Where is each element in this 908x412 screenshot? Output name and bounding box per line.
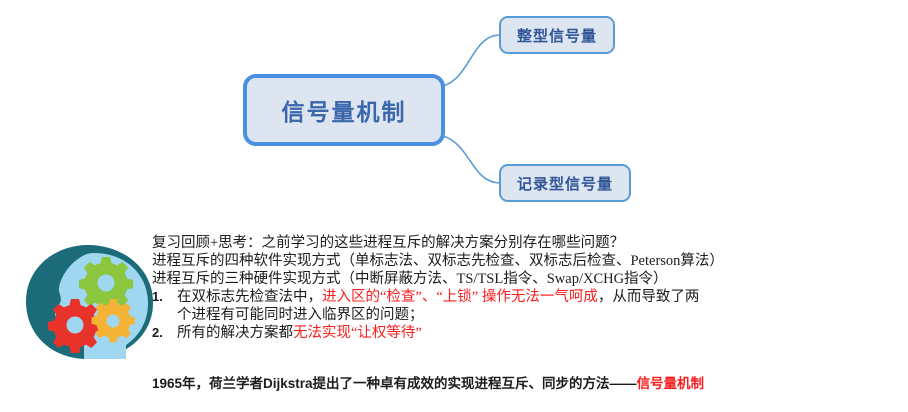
hardware-methods-line: 进程互斥的三种硬件实现方式（中断屏蔽方法、TS/TSL指令、Swap/XCHG指… <box>152 270 904 288</box>
connector-to-integer-semaphore <box>443 35 499 86</box>
mindmap-diagram: 信号量机制 整型信号量 记录型信号量 <box>0 0 908 220</box>
gear-red-icon <box>48 299 102 353</box>
text-segment: ，从而导致了两 <box>598 289 700 305</box>
lesson-text-block: 复习回顾+思考：之前学习的这些进程互斥的解决方案分别存在哪些问题？ 进程互斥的四… <box>152 234 904 342</box>
gear-green-icon <box>79 257 133 311</box>
mindmap-child-label: 记录型信号量 <box>517 173 613 194</box>
closing-statement: 1965年，荷兰学者Dijkstra提出了一种卓有成效的实现进程互斥、同步的方法… <box>152 375 704 393</box>
list-item: 1. 在双标志先检查法中，进入区的“检查”、“上锁” 操作无法一气呵成，从而导致… <box>152 288 904 324</box>
list-item-number: 1. <box>152 288 163 306</box>
list-item-line-a: 所有的解决方案都无法实现“让权等待” <box>177 324 904 342</box>
software-methods-line: 进程互斥的四种软件实现方式（单标志法、双标志先检查、双标志后检查、Peterso… <box>152 252 904 270</box>
mindmap-root-node[interactable]: 信号量机制 <box>243 74 445 146</box>
list-item: 2. 所有的解决方案都无法实现“让权等待” <box>152 324 904 342</box>
mindmap-child-node-integer-semaphore[interactable]: 整型信号量 <box>499 16 615 54</box>
list-item-line-b: 个进程有可能同时进入临界区的问题； <box>177 306 904 324</box>
highlighted-text: 无法实现“让权等待” <box>293 325 422 341</box>
text-segment: 1965年，荷兰学者Dijkstra提出了一种卓有成效的实现进程互斥、同步的方法… <box>152 376 637 391</box>
brain-gears-icon <box>22 243 158 361</box>
gear-orange-icon <box>92 299 135 342</box>
mindmap-connectors <box>0 0 908 220</box>
content-area: 复习回顾+思考：之前学习的这些进程互斥的解决方案分别存在哪些问题？ 进程互斥的四… <box>0 220 908 412</box>
list-item-line-a: 在双标志先检查法中，进入区的“检查”、“上锁” 操作无法一气呵成，从而导致了两 <box>177 288 904 306</box>
mindmap-child-node-record-semaphore[interactable]: 记录型信号量 <box>499 164 631 202</box>
mindmap-root-label: 信号量机制 <box>282 93 407 127</box>
list-item-number: 2. <box>152 324 163 342</box>
text-segment: 所有的解决方案都 <box>177 325 293 341</box>
connector-to-record-semaphore <box>443 136 499 183</box>
highlighted-text: 进入区的“检查”、“上锁” 操作无法一气呵成 <box>322 289 598 305</box>
mindmap-child-label: 整型信号量 <box>517 25 597 46</box>
problems-list: 1. 在双标志先检查法中，进入区的“检查”、“上锁” 操作无法一气呵成，从而导致… <box>152 288 904 342</box>
review-question-line: 复习回顾+思考：之前学习的这些进程互斥的解决方案分别存在哪些问题？ <box>152 234 904 252</box>
text-segment: 在双标志先检查法中， <box>177 289 322 305</box>
highlighted-text: 信号量机制 <box>637 376 705 391</box>
